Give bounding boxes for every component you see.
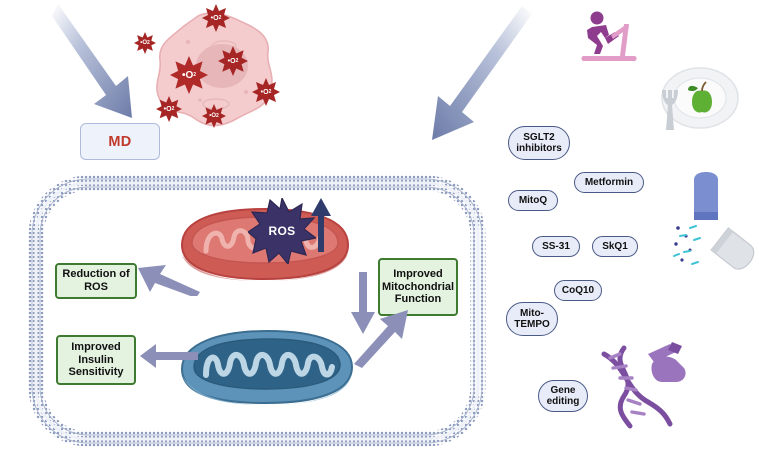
arrow-to-reduction-of-ros bbox=[138, 262, 200, 296]
md-label: MD bbox=[108, 134, 131, 150]
radical-label: •O2 bbox=[202, 4, 230, 32]
therapy-label: SS-31 bbox=[542, 241, 570, 252]
outcome-label: Reduction of ROS bbox=[62, 268, 130, 293]
therapy-label: CoQ10 bbox=[562, 285, 594, 296]
radical-label: •O2 bbox=[156, 96, 182, 122]
arrow-to-improved-mitochondrial-function bbox=[352, 306, 410, 368]
treadmill-icon bbox=[575, 8, 645, 70]
dna-editing-icon bbox=[596, 342, 712, 432]
stressed-cell-with-radicals: •O2 •O2 •O2 •O2 •O2 •O2 •O2 bbox=[140, 4, 300, 134]
superoxide-radical: •O2 bbox=[202, 4, 230, 32]
superoxide-radical: •O2 bbox=[170, 56, 208, 94]
therapy-metformin[interactable]: Metformin bbox=[574, 172, 644, 193]
superoxide-radical: •O2 bbox=[218, 46, 248, 76]
capsule-icon bbox=[672, 172, 756, 278]
radical-label: •O2 bbox=[170, 56, 208, 94]
therapy-label: Metformin bbox=[585, 177, 633, 188]
therapy-label: Gene editing bbox=[545, 385, 581, 407]
therapy-label: SGLT2 inhibitors bbox=[515, 132, 563, 154]
radical-label: •O2 bbox=[134, 32, 156, 54]
ros-burst: ROS bbox=[248, 198, 316, 264]
radical-label: •O2 bbox=[218, 46, 248, 76]
arrow-stressor-to-md bbox=[52, 0, 152, 125]
figure-canvas: •O2 •O2 •O2 •O2 •O2 •O2 •O2 MD bbox=[0, 0, 759, 458]
md-label-box: MD bbox=[80, 123, 160, 160]
superoxide-radical: •O2 bbox=[202, 104, 226, 128]
outcome-label: Improved Insulin Sensitivity bbox=[63, 341, 129, 379]
therapy-ss-31[interactable]: SS-31 bbox=[532, 236, 580, 257]
superoxide-radical: •O2 bbox=[252, 78, 280, 106]
therapy-gene-editing[interactable]: Gene editing bbox=[538, 380, 588, 412]
plate-apple-icon bbox=[648, 60, 744, 132]
therapy-sglt2-inhibitors[interactable]: SGLT2 inhibitors bbox=[508, 126, 570, 160]
radical-label: •O2 bbox=[202, 104, 226, 128]
outcome-reduction-of-ros: Reduction of ROS bbox=[55, 263, 137, 299]
ros-increase-arrow bbox=[310, 198, 332, 252]
therapy-label: Mito-TEMPO bbox=[513, 308, 551, 330]
therapy-label: MitoQ bbox=[519, 195, 547, 206]
outcome-improved-insulin-sensitivity: Improved Insulin Sensitivity bbox=[56, 335, 136, 385]
radical-label: •O2 bbox=[252, 78, 280, 106]
healthy-mitochondrion bbox=[174, 327, 358, 407]
superoxide-radical: •O2 bbox=[134, 32, 156, 54]
outcome-label: Improved Mitochondrial Function bbox=[382, 268, 454, 306]
therapy-coq10[interactable]: CoQ10 bbox=[554, 280, 602, 301]
superoxide-radical: •O2 bbox=[156, 96, 182, 122]
ros-label: ROS bbox=[248, 198, 316, 264]
therapy-mito-tempo[interactable]: Mito-TEMPO bbox=[506, 302, 558, 336]
therapy-skq1[interactable]: SkQ1 bbox=[592, 236, 638, 257]
therapy-label: SkQ1 bbox=[602, 241, 628, 252]
therapy-mitoq[interactable]: MitoQ bbox=[508, 190, 558, 211]
arrow-to-improved-insulin-sensitivity bbox=[140, 344, 198, 368]
